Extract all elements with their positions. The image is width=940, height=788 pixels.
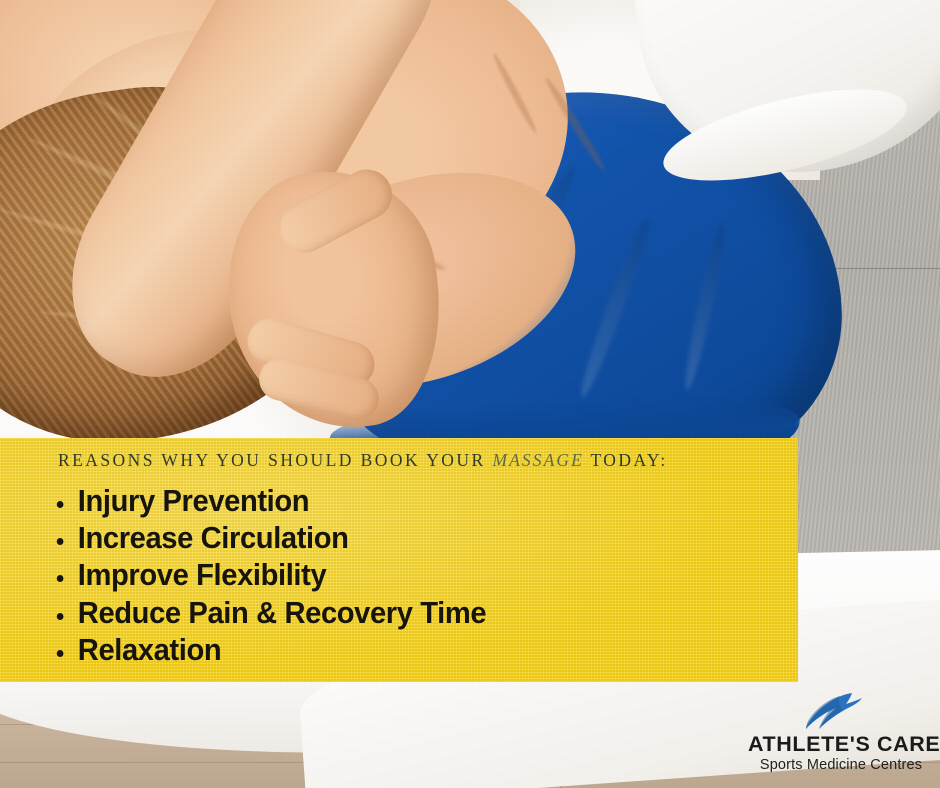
- list-item: Reduce Pain & Recovery Time: [52, 595, 740, 632]
- benefit-label: Relaxation: [78, 633, 221, 667]
- benefit-label: Reduce Pain & Recovery Time: [78, 596, 486, 630]
- list-item: Injury Prevention: [52, 483, 740, 520]
- promo-graphic-canvas: REASONS WHY YOU SHOULD BOOK YOUR MASSAGE…: [0, 0, 940, 788]
- benefit-label: Injury Prevention: [78, 484, 309, 518]
- benefit-label: Improve Flexibility: [78, 558, 326, 592]
- banner-heading: REASONS WHY YOU SHOULD BOOK YOUR MASSAGE…: [58, 450, 668, 471]
- logo-tagline: Sports Medicine Centres: [748, 756, 934, 774]
- heading-emphasis-massage: MASSAGE: [492, 450, 584, 470]
- logo-company-name: ATHLETE'S CARE: [748, 732, 934, 756]
- list-item: Increase Circulation: [52, 520, 740, 557]
- benefit-label: Increase Circulation: [78, 521, 349, 555]
- list-item: Improve Flexibility: [52, 557, 740, 594]
- athletes-care-swoosh-icon: [798, 692, 884, 732]
- athletes-care-logo: ATHLETE'S CARE Sports Medicine Centres: [748, 692, 934, 778]
- benefits-list: Injury Prevention Increase Circulation I…: [52, 483, 772, 669]
- heading-suffix: TODAY:: [590, 450, 667, 470]
- list-item: Relaxation: [52, 632, 740, 669]
- heading-prefix: REASONS WHY YOU SHOULD BOOK YOUR: [58, 450, 486, 470]
